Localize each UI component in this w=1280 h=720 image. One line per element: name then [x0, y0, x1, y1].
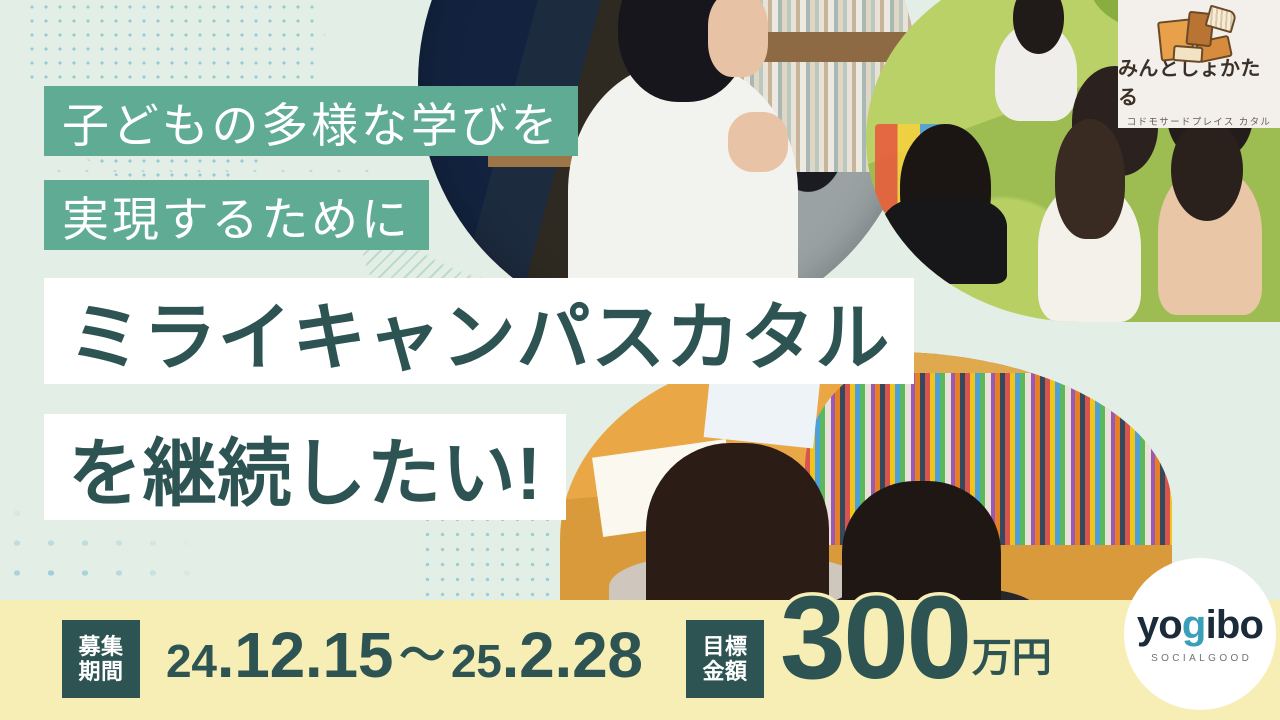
- person-hand: [728, 112, 788, 172]
- headline-line-2: を継続したい!: [44, 414, 566, 520]
- organisation-subtitle: コドモサードプレイス カタル: [1127, 114, 1271, 128]
- child-1: [900, 124, 990, 248]
- person-face: [708, 0, 768, 77]
- goal-amount: 300 万円: [780, 584, 1052, 693]
- sponsor-logo-yogibo[interactable]: yogibo SOCIALGOOD: [1124, 558, 1276, 710]
- goal-amount-unit: 万円: [970, 625, 1052, 693]
- campaign-banner: 子どもの多様な学びを 実現するために ミライキャンパスカタル を継続したい! み…: [0, 0, 1280, 720]
- period-label-chip: 募集 期間: [62, 620, 140, 698]
- headline-line-1: ミライキャンパスカタル: [44, 278, 914, 384]
- books-illustration-icon: [1157, 6, 1241, 48]
- tagline-line-2: 実現するために: [44, 180, 429, 250]
- goal-label-line-2: 金額: [703, 659, 748, 684]
- period-label-line-1: 募集: [79, 634, 124, 659]
- child-5: [1038, 183, 1141, 322]
- period-start-year: 24: [166, 634, 217, 688]
- period-end-monthday: .2.28: [502, 618, 643, 692]
- sponsor-tagline: SOCIALGOOD: [1148, 653, 1253, 664]
- sponsor-name-prefix: yo: [1137, 603, 1182, 647]
- sponsor-name-g: g: [1182, 603, 1206, 647]
- sponsor-name: yogibo: [1137, 605, 1263, 645]
- goal-label-line-1: 目標: [703, 634, 748, 659]
- child-6: [1158, 168, 1261, 314]
- period-separator: 〜: [393, 619, 451, 685]
- tagline-line-1: 子どもの多様な学びを: [44, 86, 578, 156]
- period-label-line-2: 期間: [79, 659, 124, 684]
- period-end-year: 25: [451, 634, 502, 688]
- child-2: [995, 22, 1077, 121]
- dot-pattern-row-middle: [45, 164, 385, 180]
- sponsor-name-suffix: ibo: [1206, 603, 1264, 647]
- campaign-period-dates: 24 .12.15 〜 25 .2.28: [166, 618, 643, 700]
- period-start-monthday: .12.15: [217, 618, 394, 692]
- goal-label-chip: 目標 金額: [686, 620, 764, 698]
- organisation-logo[interactable]: みんとしょかたる コドモサードプレイス カタル: [1118, 0, 1280, 128]
- goal-amount-number: 300: [780, 584, 970, 693]
